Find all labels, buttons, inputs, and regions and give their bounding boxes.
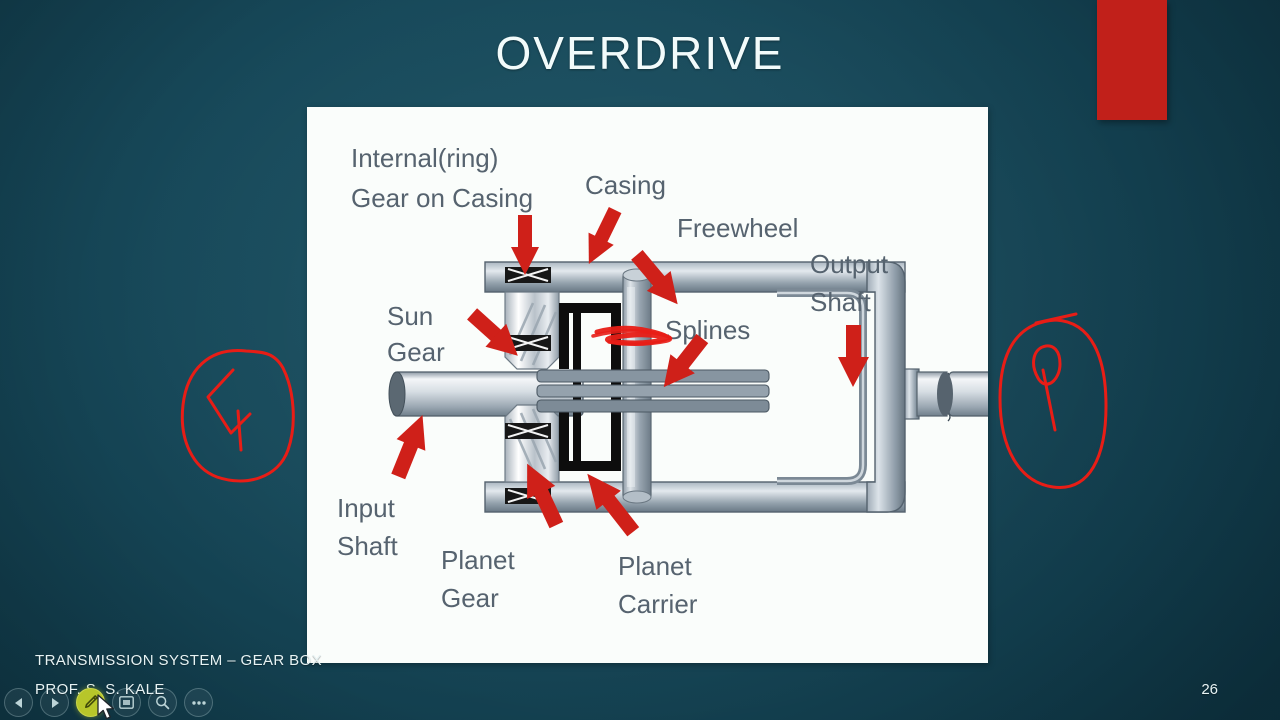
output-shaft-shape: [905, 369, 988, 421]
slide-page-number: 26: [1201, 681, 1218, 698]
label-sun-gear-line1: Sun: [387, 301, 433, 331]
magnifier-icon: [155, 695, 170, 710]
more-options-button[interactable]: [184, 688, 213, 717]
ink-circled-g: [182, 351, 293, 481]
label-output-shaft-line2: Shaft: [810, 287, 871, 317]
ink-circled-p: [1000, 314, 1106, 487]
label-planet-carrier-line2: Carrier: [618, 589, 698, 619]
footer-course-title: TRANSMISSION SYSTEM – GEAR BOX: [35, 652, 322, 669]
label-planet-gear-line1: Planet: [441, 545, 515, 575]
label-planet-gear-line2: Gear: [441, 583, 499, 613]
arrow-casing: [576, 204, 627, 270]
previous-slide-button[interactable]: [4, 688, 33, 717]
zoom-tool-button[interactable]: [148, 688, 177, 717]
overdrive-diagram: Internal(ring) Gear on Casing Casing Fre…: [307, 107, 988, 663]
label-freewheel: Freewheel: [677, 213, 798, 243]
label-output-shaft-line1: Output: [810, 249, 889, 279]
right-arrow-icon: [49, 697, 61, 709]
label-planet-carrier-line1: Planet: [618, 551, 692, 581]
page-title: OVERDRIVE: [0, 26, 1280, 80]
mouse-cursor: [97, 694, 117, 720]
left-arrow-icon: [13, 697, 25, 709]
arrow-input-shaft: [384, 409, 437, 482]
grid-icon: [119, 696, 134, 709]
label-input-shaft-line2: Shaft: [337, 531, 398, 561]
label-internal-ring-gear-line1: Internal(ring): [351, 143, 498, 173]
label-sun-gear-line2: Gear: [387, 337, 445, 367]
label-internal-ring-gear-line2: Gear on Casing: [351, 183, 533, 213]
label-input-shaft-line1: Input: [337, 493, 396, 523]
diagram-image-panel: Internal(ring) Gear on Casing Casing Fre…: [307, 107, 988, 663]
ink-strike-scribble: [593, 328, 671, 344]
presentation-slide: OVERDRIVE: [0, 0, 1280, 720]
label-casing: Casing: [585, 170, 666, 200]
splines-shape: [537, 370, 769, 412]
next-slide-button[interactable]: [40, 688, 69, 717]
label-splines: Splines: [665, 315, 750, 345]
ellipsis-icon: [191, 700, 207, 706]
